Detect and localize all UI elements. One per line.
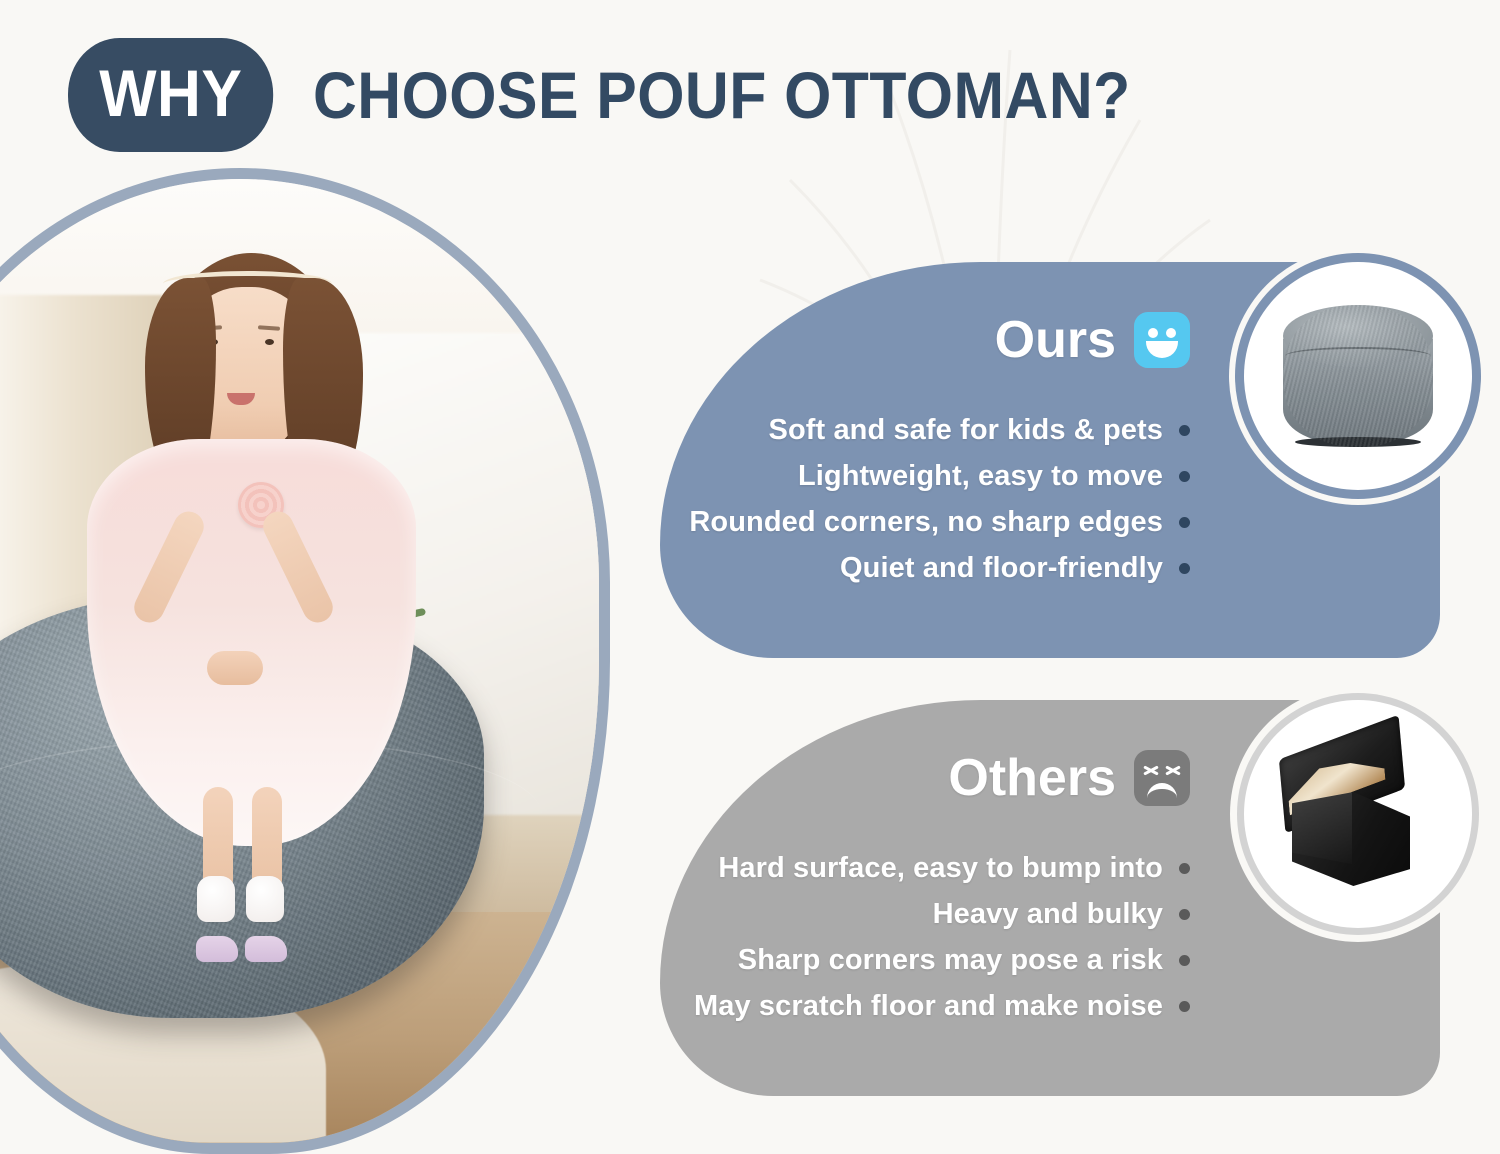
others-title: Others bbox=[948, 752, 1116, 804]
list-item: May scratch floor and make noise bbox=[694, 990, 1190, 1023]
folded-hands bbox=[207, 651, 263, 685]
hero-photo bbox=[0, 168, 610, 1154]
others-feature-list: Hard surface, easy to bump into Heavy an… bbox=[694, 852, 1190, 1036]
shoe-left bbox=[196, 936, 238, 962]
others-product-image bbox=[1244, 700, 1472, 928]
list-item: Quiet and floor-friendly bbox=[689, 552, 1190, 585]
others-feature-text: Sharp corners may pose a risk bbox=[738, 944, 1163, 977]
child-figure bbox=[25, 227, 470, 1075]
bullet-dot-icon bbox=[1179, 517, 1190, 528]
bullet-dot-icon bbox=[1179, 1001, 1190, 1012]
bullet-dot-icon bbox=[1179, 563, 1190, 574]
others-panel-header: Others bbox=[948, 750, 1190, 806]
list-item: Heavy and bulky bbox=[694, 898, 1190, 931]
bullet-dot-icon bbox=[1179, 471, 1190, 482]
bullet-dot-icon bbox=[1179, 863, 1190, 874]
happy-eye-right bbox=[1166, 328, 1176, 338]
list-item: Hard surface, easy to bump into bbox=[694, 852, 1190, 885]
bullet-dot-icon bbox=[1179, 955, 1190, 966]
ours-feature-text: Lightweight, easy to move bbox=[798, 460, 1163, 493]
lace-sock-left bbox=[197, 876, 235, 922]
annoyed-face-icon bbox=[1134, 750, 1190, 806]
pouf-base bbox=[1295, 437, 1421, 447]
ours-product-image bbox=[1244, 262, 1472, 490]
frowning-mouth bbox=[1147, 783, 1177, 798]
others-feature-text: Hard surface, easy to bump into bbox=[718, 852, 1163, 885]
why-badge: WHY bbox=[68, 38, 274, 152]
list-item: Rounded corners, no sharp edges bbox=[689, 506, 1190, 539]
list-item: Sharp corners may pose a risk bbox=[694, 944, 1190, 977]
happy-eye-left bbox=[1148, 328, 1158, 338]
page-header: WHY CHOOSE POUF OTTOMAN? bbox=[0, 0, 1500, 190]
happy-mouth bbox=[1146, 341, 1178, 358]
ours-feature-text: Soft and safe for kids & pets bbox=[769, 414, 1163, 447]
ours-panel-header: Ours bbox=[995, 312, 1190, 368]
happy-face-icon bbox=[1134, 312, 1190, 368]
ours-feature-text: Rounded corners, no sharp edges bbox=[689, 506, 1163, 539]
list-item: Soft and safe for kids & pets bbox=[689, 414, 1190, 447]
photo-scene bbox=[0, 179, 599, 1143]
shoe-right bbox=[245, 936, 287, 962]
round-grey-pouf-illustration bbox=[1283, 305, 1433, 447]
eyebrow-right bbox=[258, 325, 280, 331]
ours-feature-text: Quiet and floor-friendly bbox=[840, 552, 1163, 585]
black-square-ottoman-illustration bbox=[1274, 730, 1442, 898]
lace-sock-right bbox=[246, 876, 284, 922]
page-title: CHOOSE POUF OTTOMAN? bbox=[313, 57, 1131, 133]
list-item: Lightweight, easy to move bbox=[689, 460, 1190, 493]
others-feature-text: May scratch floor and make noise bbox=[694, 990, 1163, 1023]
photo-arc-frame bbox=[0, 168, 610, 1154]
ours-title: Ours bbox=[995, 314, 1116, 366]
ours-feature-list: Soft and safe for kids & pets Lightweigh… bbox=[689, 414, 1190, 598]
pouf-lip-seam bbox=[1285, 347, 1431, 365]
bullet-dot-icon bbox=[1179, 909, 1190, 920]
others-feature-text: Heavy and bulky bbox=[933, 898, 1163, 931]
bullet-dot-icon bbox=[1179, 425, 1190, 436]
